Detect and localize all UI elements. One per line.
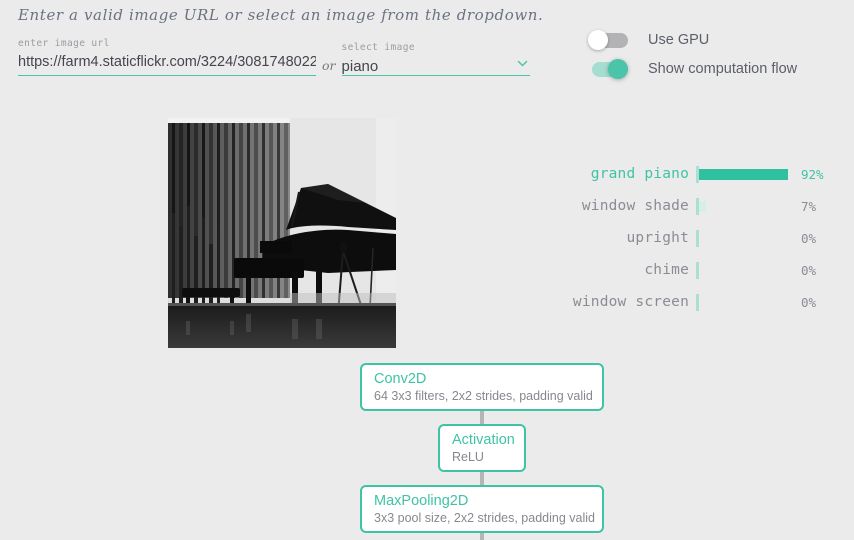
prediction-bar-tick: [696, 262, 699, 279]
image-preview[interactable]: [168, 118, 396, 348]
select-field-label: select image: [342, 42, 530, 53]
switch-knob[interactable]: [608, 59, 628, 79]
toggle-row-show-computation-flow[interactable]: Show computation flow: [588, 54, 797, 83]
url-field-label: enter image url: [18, 38, 316, 49]
prediction-row: grand piano 92%: [520, 158, 850, 190]
select-field-group: select image piano: [342, 42, 530, 76]
predictions-list: grand piano 92% window shade 7% upright …: [520, 158, 850, 318]
layer-node-conv2d[interactable]: Conv2D 64 3x3 filters, 2x2 strides, padd…: [360, 363, 604, 411]
piano-photo: [168, 118, 396, 348]
prediction-row: chime 0%: [520, 254, 850, 286]
use-gpu-label: Use GPU: [648, 32, 709, 48]
layer-node-activation[interactable]: Activation ReLU: [438, 424, 526, 472]
url-field-group: enter image url: [18, 38, 316, 76]
prediction-bar: [696, 233, 796, 244]
prediction-bar-tick: [696, 294, 699, 311]
layer-node-title: MaxPooling2D: [374, 492, 590, 510]
prediction-bar: [696, 201, 796, 212]
layer-node-subtitle: 3x3 pool size, 2x2 strides, padding vali…: [374, 510, 590, 526]
switch-knob[interactable]: [588, 30, 608, 50]
toggle-row-use-gpu[interactable]: Use GPU: [588, 25, 797, 54]
show-computation-flow-switch[interactable]: [588, 59, 629, 79]
prediction-label: chime: [520, 262, 696, 278]
prediction-bar-fill: [699, 169, 788, 180]
prediction-bar-tick: [696, 230, 699, 247]
show-computation-flow-label: Show computation flow: [648, 61, 797, 77]
prediction-percent: 0%: [801, 231, 816, 246]
options-toggles: Use GPU Show computation flow: [588, 25, 797, 83]
prediction-row: window shade 7%: [520, 190, 850, 222]
page-title: Enter a valid image URL or select an ima…: [18, 6, 543, 24]
prediction-label: upright: [520, 230, 696, 246]
prediction-percent: 7%: [801, 199, 816, 214]
prediction-bar: [696, 297, 796, 308]
or-separator: or: [322, 58, 336, 73]
use-gpu-switch[interactable]: [588, 30, 629, 50]
prediction-bar: [696, 265, 796, 276]
layer-node-maxpooling2d[interactable]: MaxPooling2D 3x3 pool size, 2x2 strides,…: [360, 485, 604, 533]
image-select-value[interactable]: piano: [342, 57, 530, 76]
layer-node-subtitle: ReLU: [452, 449, 512, 465]
prediction-bar: [696, 169, 796, 180]
prediction-bar-fill: [699, 201, 706, 212]
prediction-row: window screen 0%: [520, 286, 850, 318]
layer-node-title: Conv2D: [374, 370, 590, 388]
prediction-label: window shade: [520, 198, 696, 214]
prediction-label: grand piano: [520, 166, 696, 182]
prediction-percent: 92%: [801, 167, 824, 182]
computation-flow-diagram: Conv2D 64 3x3 filters, 2x2 strides, padd…: [0, 355, 854, 540]
prediction-percent: 0%: [801, 295, 816, 310]
image-url-input[interactable]: [18, 53, 316, 76]
image-source-form: enter image url or select image piano: [18, 38, 530, 76]
image-select-wrapper[interactable]: piano: [342, 57, 530, 76]
layer-node-subtitle: 64 3x3 filters, 2x2 strides, padding val…: [374, 388, 590, 404]
layer-node-title: Activation: [452, 431, 512, 449]
prediction-row: upright 0%: [520, 222, 850, 254]
prediction-percent: 0%: [801, 263, 816, 278]
prediction-label: window screen: [520, 294, 696, 310]
